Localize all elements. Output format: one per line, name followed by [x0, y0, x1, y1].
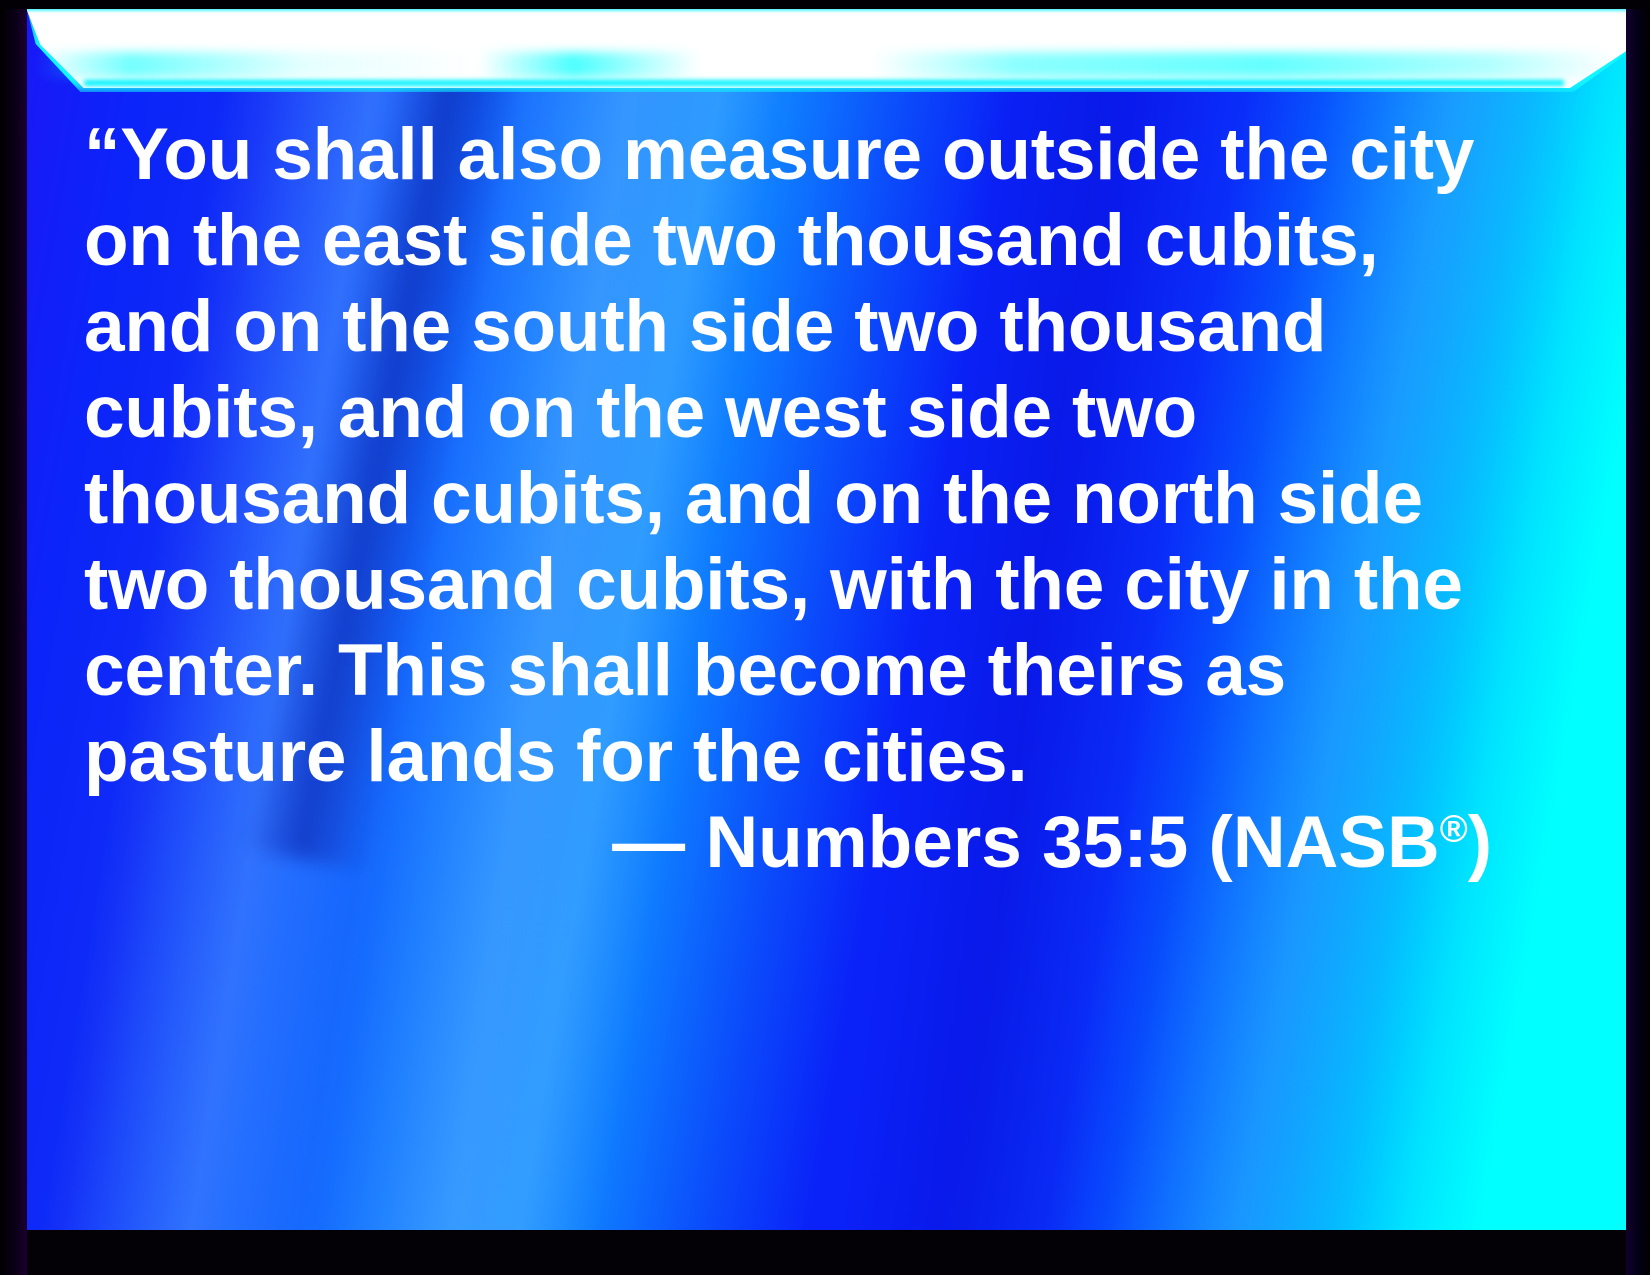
- attribution-close-paren: ): [1468, 802, 1492, 883]
- scripture-slide: “You shall also measure outside the city…: [0, 0, 1650, 1275]
- verse-attribution: — Numbers 35:5 (NASB®): [84, 800, 1492, 886]
- verse-text: “You shall also measure outside the city…: [84, 112, 1504, 800]
- registered-trademark-icon: ®: [1440, 809, 1468, 851]
- attribution-dash: —: [612, 802, 705, 883]
- attribution-reference: Numbers 35:5 (NASB: [705, 802, 1439, 883]
